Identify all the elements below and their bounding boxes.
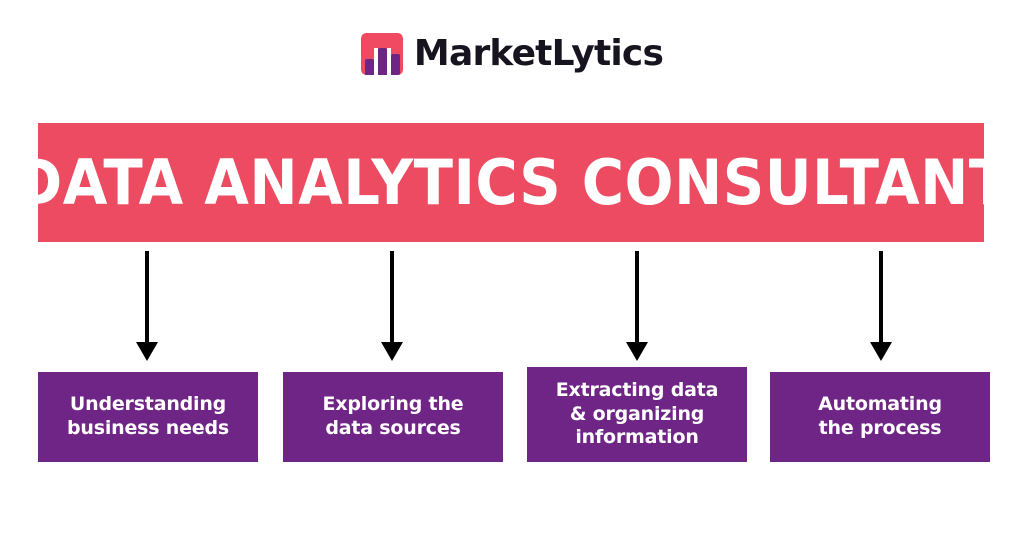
logo-bar-2 <box>378 48 387 75</box>
brand-wordmark: MarketLytics <box>414 36 663 72</box>
brand-logo-lockup: MarketLytics <box>0 28 1024 80</box>
arrow-down-icon-2 <box>381 251 403 361</box>
arrow-head <box>626 342 648 361</box>
arrow-head <box>870 342 892 361</box>
headline-banner: DATA ANALYTICS CONSULTANT <box>38 123 984 242</box>
arrow-down-icon-1 <box>136 251 158 361</box>
logo-bar-gap-2 <box>387 48 391 75</box>
logo-bar-3 <box>391 54 400 75</box>
arrow-shaft <box>635 251 639 343</box>
arrow-head <box>136 342 158 361</box>
step-box-row: Understanding business needs Exploring t… <box>38 365 990 465</box>
step-label: Extracting data & organizing information <box>556 379 718 450</box>
arrow-shaft <box>145 251 149 343</box>
infographic-canvas: MarketLytics DATA ANALYTICS CONSULTANT U… <box>0 0 1024 536</box>
page-title: DATA ANALYTICS CONSULTANT <box>14 152 1008 214</box>
step-label: Exploring the data sources <box>323 393 464 441</box>
step-label: Automating the process <box>818 393 942 441</box>
logo-bar-1 <box>365 59 374 75</box>
marketlytics-bar-chart-logo-icon <box>361 33 403 75</box>
logo-bar-gap-1 <box>374 48 378 75</box>
step-box-extracting-data-organizing-information: Extracting data & organizing information <box>527 367 747 462</box>
arrow-down-icon-3 <box>626 251 648 361</box>
step-label: Understanding business needs <box>67 393 229 441</box>
step-box-exploring-the-data-sources: Exploring the data sources <box>283 372 503 462</box>
arrow-down-icon-4 <box>870 251 892 361</box>
arrow-shaft <box>390 251 394 343</box>
arrow-head <box>381 342 403 361</box>
step-box-understanding-business-needs: Understanding business needs <box>38 372 258 462</box>
step-box-automating-the-process: Automating the process <box>770 372 990 462</box>
arrow-shaft <box>879 251 883 343</box>
